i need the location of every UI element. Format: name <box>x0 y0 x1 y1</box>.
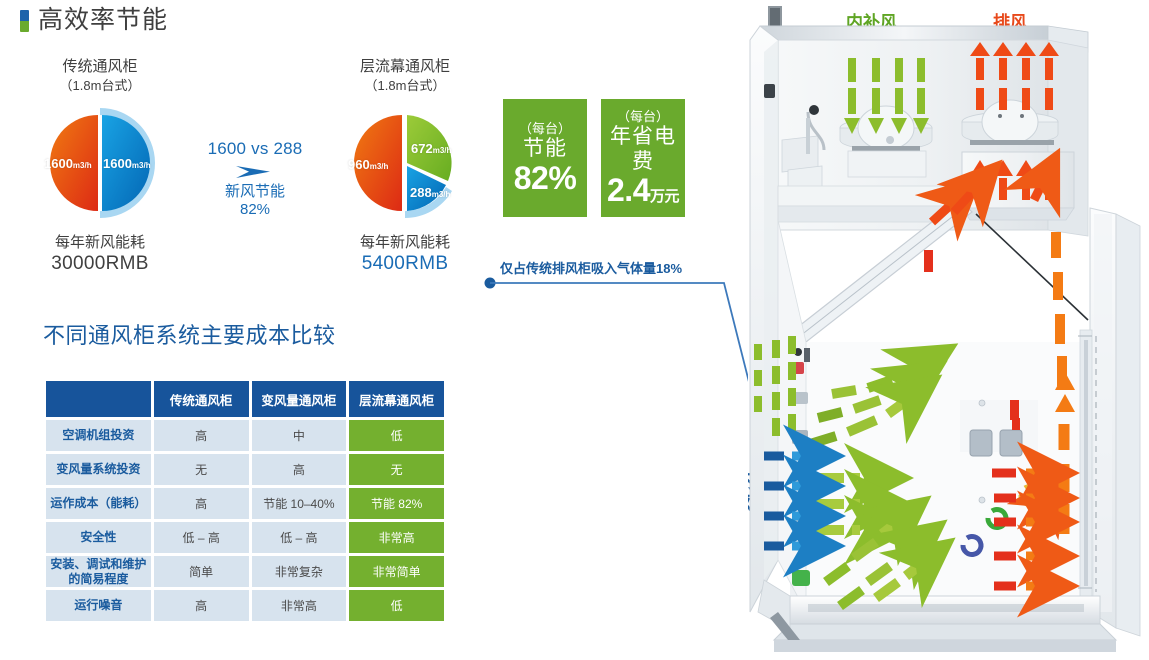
table-cell-highlight: 无 <box>349 454 444 485</box>
section-heading: 不同通风柜系统主要成本比较 <box>43 318 336 350</box>
pie-slice-label-traditional-blue: 1600m3/h <box>103 155 151 173</box>
comparison-block: 1600 vs 288 新风节能 82% <box>196 140 314 220</box>
table-cell: 低 – 高 <box>252 522 347 553</box>
pie-slice-label-traditional-orange: 1600m3/h <box>44 155 92 173</box>
badge-mid-1: 节能 <box>523 137 567 161</box>
badge-mid-2: 年省电费 <box>601 125 685 173</box>
table-cell-highlight: 低 <box>349 420 444 451</box>
table-row-head: 安全性 <box>46 522 151 553</box>
pie-slice-label-laminar-blue: 288m3/h <box>410 184 450 202</box>
pie-footer-traditional: 每年新风能耗 30000RMB <box>0 233 205 277</box>
table-row-head: 空调机组投资 <box>46 420 151 451</box>
fume-hood-svg <box>748 0 1149 660</box>
table-cell: 非常复杂 <box>252 556 347 587</box>
table-row: 运行噪音 高 非常高 低 <box>46 590 444 621</box>
table-row-head: 变风量系统投资 <box>46 454 151 485</box>
pie-slice-label-laminar-green: 672m3/h <box>411 140 451 158</box>
table-row-head: 安装、调试和维护的简易程度 <box>46 556 151 587</box>
pie-subtitle-laminar: （1.8m台式） <box>300 78 510 95</box>
table-cell: 高 <box>154 590 249 621</box>
table-cell: 高 <box>154 420 249 451</box>
pie-block-traditional: 传统通风柜 （1.8m台式） <box>0 58 205 277</box>
callout-note: 仅占传统排风柜吸入气体量18% <box>500 258 682 277</box>
pie-chart-traditional: 1600m3/h 1600m3/h <box>35 107 165 219</box>
left-pane: 高效率节能 传统通风柜 （1.8m台式） <box>0 0 760 660</box>
pie-title-laminar: 层流幕通风柜 <box>300 58 510 77</box>
table-cell: 高 <box>252 454 347 485</box>
pie-foot-label-traditional: 每年新风能耗 <box>55 234 145 251</box>
table-row: 空调机组投资 高 中 低 <box>46 420 444 451</box>
table-cell-highlight: 非常简单 <box>349 556 444 587</box>
pie-foot-value-laminar: 5400RMB <box>300 252 510 277</box>
table-cell: 无 <box>154 454 249 485</box>
table-cell: 节能 10–40% <box>252 488 347 519</box>
comparison-ratio: 1600 vs 288 <box>196 140 314 159</box>
pie-footer-laminar: 每年新风能耗 5400RMB <box>300 233 510 277</box>
badge-group: （每台） 节能 82% （每台） 年省电费 2.4万元 <box>503 99 685 217</box>
comparison-line2: 82% <box>196 201 314 220</box>
table-row: 安装、调试和维护的简易程度 简单 非常复杂 非常简单 <box>46 556 444 587</box>
callout-leader-line <box>484 276 760 596</box>
table-header-row: 传统通风柜 变风量通风柜 层流幕通风柜 <box>46 381 444 417</box>
table-header-col-1: 传统通风柜 <box>154 381 249 417</box>
pie-chart-laminar: 960m3/h 672m3/h 288m3/h <box>340 107 470 219</box>
table-cell: 非常高 <box>252 590 347 621</box>
pie-block-laminar: 层流幕通风柜 （1.8m台式） <box>300 58 510 277</box>
badge-sub-1: （每台） <box>519 121 571 137</box>
table-cell: 低 – 高 <box>154 522 249 553</box>
infographic-root: 高效率节能 传统通风柜 （1.8m台式） <box>0 0 1149 660</box>
badge-annual-saving: （每台） 年省电费 2.4万元 <box>601 99 685 217</box>
badge-energy-saving: （每台） 节能 82% <box>503 99 587 217</box>
fume-hood-diagram: 内补风 排风 室内 新风 <box>748 0 1149 660</box>
pie-title-traditional: 传统通风柜 <box>0 58 205 77</box>
pie-foot-label-laminar: 每年新风能耗 <box>360 234 450 251</box>
badge-big-2: 2.4万元 <box>607 174 679 208</box>
table-row-head: 运作成本（能耗） <box>46 488 151 519</box>
pie-slice-label-laminar-orange: 960m3/h <box>348 156 388 174</box>
table-cell: 高 <box>154 488 249 519</box>
table-cell-highlight: 非常高 <box>349 522 444 553</box>
table-cell-highlight: 节能 82% <box>349 488 444 519</box>
table-cell-highlight: 低 <box>349 590 444 621</box>
comparison-line1: 新风节能 <box>196 183 314 202</box>
table-row-head: 运行噪音 <box>46 590 151 621</box>
table-row: 运作成本（能耗） 高 节能 10–40% 节能 82% <box>46 488 444 519</box>
arrow-right-icon <box>236 164 274 180</box>
table-header-col-3: 层流幕通风柜 <box>349 381 444 417</box>
comparison-table: 传统通风柜 变风量通风柜 层流幕通风柜 空调机组投资 高 中 低 变风量系统投资… <box>43 378 447 624</box>
badge-big-1: 82% <box>514 162 577 196</box>
page-title-text: 高效率节能 <box>38 8 168 33</box>
table-row: 安全性 低 – 高 低 – 高 非常高 <box>46 522 444 553</box>
table-cell: 中 <box>252 420 347 451</box>
pie-foot-value-traditional: 30000RMB <box>0 252 205 277</box>
badge-sub-2: （每台） <box>617 109 669 125</box>
pie-subtitle-traditional: （1.8m台式） <box>0 78 205 95</box>
table-header-corner <box>46 381 151 417</box>
table-row: 变风量系统投资 无 高 无 <box>46 454 444 485</box>
table-header-col-2: 变风量通风柜 <box>252 381 347 417</box>
table-cell: 简单 <box>154 556 249 587</box>
page-title: 高效率节能 <box>20 8 168 33</box>
title-marker-icon <box>20 10 29 32</box>
